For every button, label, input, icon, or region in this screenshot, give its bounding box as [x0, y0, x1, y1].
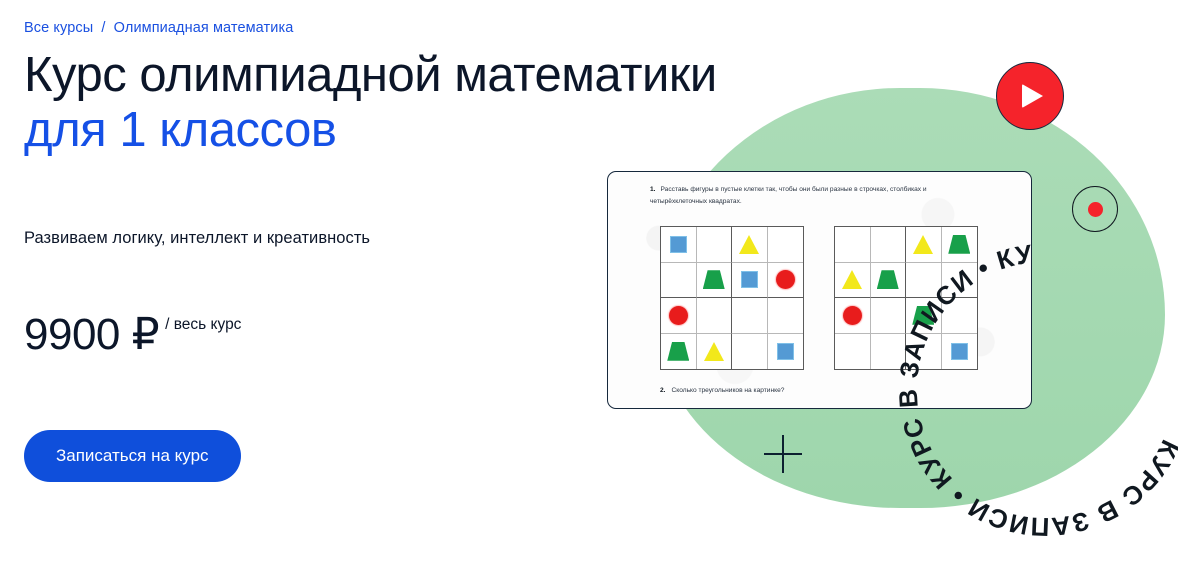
puzzle-cell[interactable]: [661, 263, 697, 299]
puzzle-grid-right[interactable]: [834, 226, 978, 370]
puzzle-cell[interactable]: [732, 298, 768, 334]
worksheet-question-2-number: 2.: [660, 387, 666, 394]
trapezoid-shape-icon: [912, 306, 934, 325]
worksheet-preview-card[interactable]: 1.Расставь фигуры в пустые клетки так, ч…: [607, 171, 1032, 409]
triangle-shape-icon: [704, 342, 724, 361]
worksheet-question-2: 2.Сколько треугольников на картинке?: [660, 387, 990, 394]
price-block: 9900 ₽ / весь курс: [24, 313, 241, 357]
record-dot-icon: [1088, 202, 1103, 217]
enroll-button[interactable]: Записаться на курс: [24, 430, 241, 482]
square-shape-icon: [951, 343, 968, 360]
square-shape-icon: [741, 271, 758, 288]
triangle-shape-icon: [842, 270, 862, 289]
circle-shape-icon: [669, 306, 688, 325]
puzzle-cell[interactable]: [942, 298, 978, 334]
play-icon: [1022, 84, 1043, 108]
puzzle-cell[interactable]: [697, 227, 733, 263]
puzzle-cell[interactable]: [871, 263, 907, 299]
puzzle-cell[interactable]: [835, 298, 871, 334]
puzzle-cell[interactable]: [906, 298, 942, 334]
puzzle-cell[interactable]: [661, 227, 697, 263]
puzzle-cell[interactable]: [732, 263, 768, 299]
circle-shape-icon: [776, 270, 795, 289]
puzzle-cell[interactable]: [835, 227, 871, 263]
puzzle-cell[interactable]: [768, 298, 804, 334]
price-note: / весь курс: [165, 316, 241, 334]
worksheet-question-1-number: 1.: [650, 186, 656, 193]
play-button[interactable]: [996, 62, 1064, 130]
trapezoid-shape-icon: [877, 270, 899, 289]
puzzle-cell[interactable]: [906, 227, 942, 263]
puzzle-cell[interactable]: [871, 334, 907, 370]
puzzle-cell[interactable]: [906, 263, 942, 299]
puzzle-cell[interactable]: [661, 334, 697, 370]
hero-text-column: Все курсы / Олимпиадная математика Курс …: [24, 0, 624, 577]
puzzle-cell[interactable]: [942, 227, 978, 263]
worksheet-question-1-text: Расставь фигуры в пустые клетки так, что…: [650, 186, 927, 205]
worksheet-question-1: 1.Расставь фигуры в пустые клетки так, ч…: [650, 184, 980, 207]
triangle-shape-icon: [913, 235, 933, 254]
breadcrumb: Все курсы / Олимпиадная математика: [24, 20, 293, 36]
hero-visual: 1.Расставь фигуры в пустые клетки так, ч…: [612, 0, 1178, 577]
puzzle-cell[interactable]: [697, 334, 733, 370]
puzzle-cell[interactable]: [942, 334, 978, 370]
puzzle-cell[interactable]: [697, 263, 733, 299]
puzzle-cell[interactable]: [871, 227, 907, 263]
puzzle-cell[interactable]: [732, 334, 768, 370]
puzzle-cell[interactable]: [835, 263, 871, 299]
breadcrumb-item-all-courses[interactable]: Все курсы: [24, 20, 93, 36]
puzzle-cell[interactable]: [871, 298, 907, 334]
worksheet-question-2-text: Сколько треугольников на картинке?: [672, 387, 785, 394]
square-shape-icon: [670, 236, 687, 253]
puzzle-grid-left[interactable]: [660, 226, 804, 370]
square-shape-icon: [777, 343, 794, 360]
puzzle-cell[interactable]: [697, 298, 733, 334]
puzzle-cell[interactable]: [942, 263, 978, 299]
puzzle-cell[interactable]: [768, 263, 804, 299]
puzzle-cell[interactable]: [768, 227, 804, 263]
triangle-shape-icon: [739, 235, 759, 254]
circle-shape-icon: [843, 306, 862, 325]
price-amount: 9900 ₽: [24, 313, 159, 357]
breadcrumb-item-olympiad-math[interactable]: Олимпиадная математика: [114, 20, 294, 36]
course-hero-page: Все курсы / Олимпиадная математика Курс …: [0, 0, 1178, 577]
puzzle-grid-right-wrapper: [834, 226, 978, 370]
trapezoid-shape-icon: [667, 342, 689, 361]
puzzle-cell[interactable]: [835, 334, 871, 370]
puzzle-cell[interactable]: [732, 227, 768, 263]
breadcrumb-separator: /: [97, 20, 109, 36]
trapezoid-shape-icon: [703, 270, 725, 289]
puzzle-cell[interactable]: [768, 334, 804, 370]
puzzle-cell[interactable]: [661, 298, 697, 334]
trapezoid-shape-icon: [948, 235, 970, 254]
record-icon: [1072, 186, 1118, 232]
hero-subtitle: Развиваем логику, интеллект и креативнос…: [24, 229, 370, 248]
puzzle-grid-left-wrapper: [660, 226, 804, 370]
puzzle-cell[interactable]: [906, 334, 942, 370]
plus-icon: [764, 435, 802, 473]
